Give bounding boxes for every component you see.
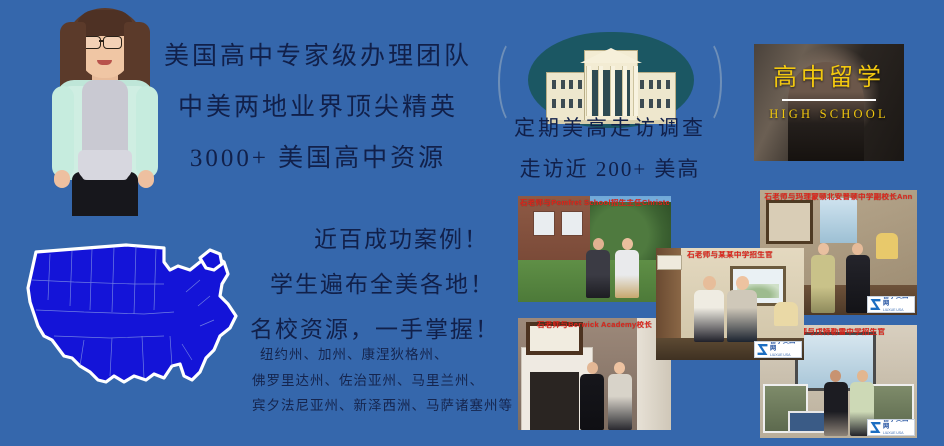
hero-text-overlay: 高中留学 HIGH SCHOOL — [754, 66, 904, 120]
site-logo-watermark: 留学美国网 LIUXUE USA NETWORK — [867, 296, 915, 313]
building-column-4 — [622, 66, 627, 116]
photo2-person-left — [579, 362, 605, 430]
hero-photo: 高中留学 HIGH SCHOOL — [754, 44, 904, 161]
photo-berwick-academy: 石老师与Berwick Academy校长 — [518, 318, 671, 430]
portrait-glasses-right — [103, 36, 122, 49]
photo1-person-right — [614, 238, 640, 298]
portrait-hand-right — [138, 170, 154, 188]
photo2-person-right — [607, 362, 633, 430]
emblem-arc-left — [498, 38, 532, 126]
photo-pomfret-campus: 石老师与Pomfret School招生主任Christopher — [518, 196, 671, 302]
logo-name-cn: 留学美国网 — [883, 419, 914, 431]
state-list-line-2: 佛罗里达州、佐治亚州、马里兰州、 — [252, 374, 512, 388]
logo-name-cn: 留学美国网 — [883, 296, 914, 308]
slogan-line-2: 学生遍布全美各地！ — [250, 273, 500, 296]
photo5-lamp — [774, 302, 798, 326]
photo-interview-room: 石老师与某某中学招生官 留学美国网 LIUXUE USA NETWORK — [656, 248, 804, 360]
portrait-arm-left — [52, 86, 74, 178]
emblem-building — [546, 50, 676, 124]
state-list: 纽约州、加州、康涅狄格州、 佛罗里达州、佐治亚州、马里兰州、 宾夕法尼亚州、新泽… — [252, 348, 512, 413]
photo3-caption: 石老师与玛理蒙顿北安普顿中学副校长Ann — [762, 193, 915, 201]
headline-block: 美国高中专家级办理团队 中美两地业界顶尖精英 3000+ 美国高中资源 — [148, 44, 488, 171]
state-list-line-1: 纽约州、加州、康涅狄格州、 — [252, 348, 512, 362]
slogan-block: 近百成功案例！ 学生遍布全美各地！ 名校资源，一手掌握！ — [250, 228, 500, 341]
liuxue-z-mark-icon — [869, 421, 882, 434]
hero-title-cn: 高中留学 — [754, 66, 904, 90]
portrait-hand-left — [54, 170, 70, 188]
headline-line-2: 中美两地业界顶尖精英 — [148, 95, 488, 120]
photo5-person-right — [727, 276, 757, 342]
us-map-svg — [14, 240, 254, 420]
photo3-person-left — [810, 243, 836, 313]
building-column-3 — [610, 66, 615, 116]
emblem-caption-2: 走访近 200+ 美高 — [498, 159, 722, 180]
site-logo-watermark: 留学美国网 LIUXUE USA NETWORK — [754, 341, 802, 358]
liuxue-z-mark-icon — [756, 343, 769, 356]
site-logo-watermark: 留学美国网 LIUXUE USA NETWORK — [867, 419, 915, 436]
building-column-2 — [598, 66, 603, 116]
logo-name-cn: 留学美国网 — [770, 341, 801, 353]
photo2-firebox — [530, 372, 579, 430]
photo1-caption: 石老师与Pomfret School招生主任Christopher — [520, 199, 669, 207]
building-column-5 — [633, 66, 638, 116]
portrait-peplum — [78, 150, 132, 180]
photo1-window-2 — [561, 211, 583, 236]
hero-title-en: HIGH SCHOOL — [754, 108, 904, 121]
photo3-framed-art — [766, 200, 813, 244]
photo3-window — [820, 198, 858, 243]
hero-divider — [782, 99, 876, 101]
emblem-caption-1: 定期美高走访调查 — [498, 118, 722, 139]
photo2-caption: 石老师与Berwick Academy校长 — [520, 321, 669, 329]
state-list-line-3: 宾夕法尼亚州、新泽西洲、马萨诸塞州等 — [252, 399, 512, 413]
headline-line-3: 3000+ 美国高中资源 — [148, 146, 488, 171]
slogan-line-3: 名校资源，一手掌握！ — [250, 318, 500, 341]
promo-banner: 美国高中专家级办理团队 中美两地业界顶尖精英 3000+ 美国高中资源 — [0, 0, 944, 446]
liuxue-z-mark-icon — [869, 298, 882, 311]
logo-name-en: LIUXUE USA NETWORK — [770, 353, 801, 359]
building-column-1 — [586, 66, 591, 116]
united-states-map — [14, 240, 254, 420]
logo-name-en: LIUXUE USA NETWORK — [883, 308, 914, 314]
slogan-line-1: 近百成功案例！ — [250, 228, 500, 251]
portrait-glasses-bridge — [99, 40, 104, 42]
photo3-lamp — [876, 233, 898, 259]
photo5-person-left — [694, 276, 724, 342]
photo4-person-left — [823, 370, 849, 436]
photo5-caption: 石老师与某某中学招生官 — [658, 251, 802, 259]
emblem-captions: 定期美高走访调查 走访近 200+ 美高 — [498, 118, 722, 180]
photo1-window-1 — [533, 211, 555, 236]
logo-name-en: LIUXUE USA NETWORK — [883, 431, 914, 437]
photo1-person-left — [585, 238, 611, 298]
building-pediment — [580, 48, 642, 63]
headline-line-1: 美国高中专家级办理团队 — [148, 44, 488, 69]
